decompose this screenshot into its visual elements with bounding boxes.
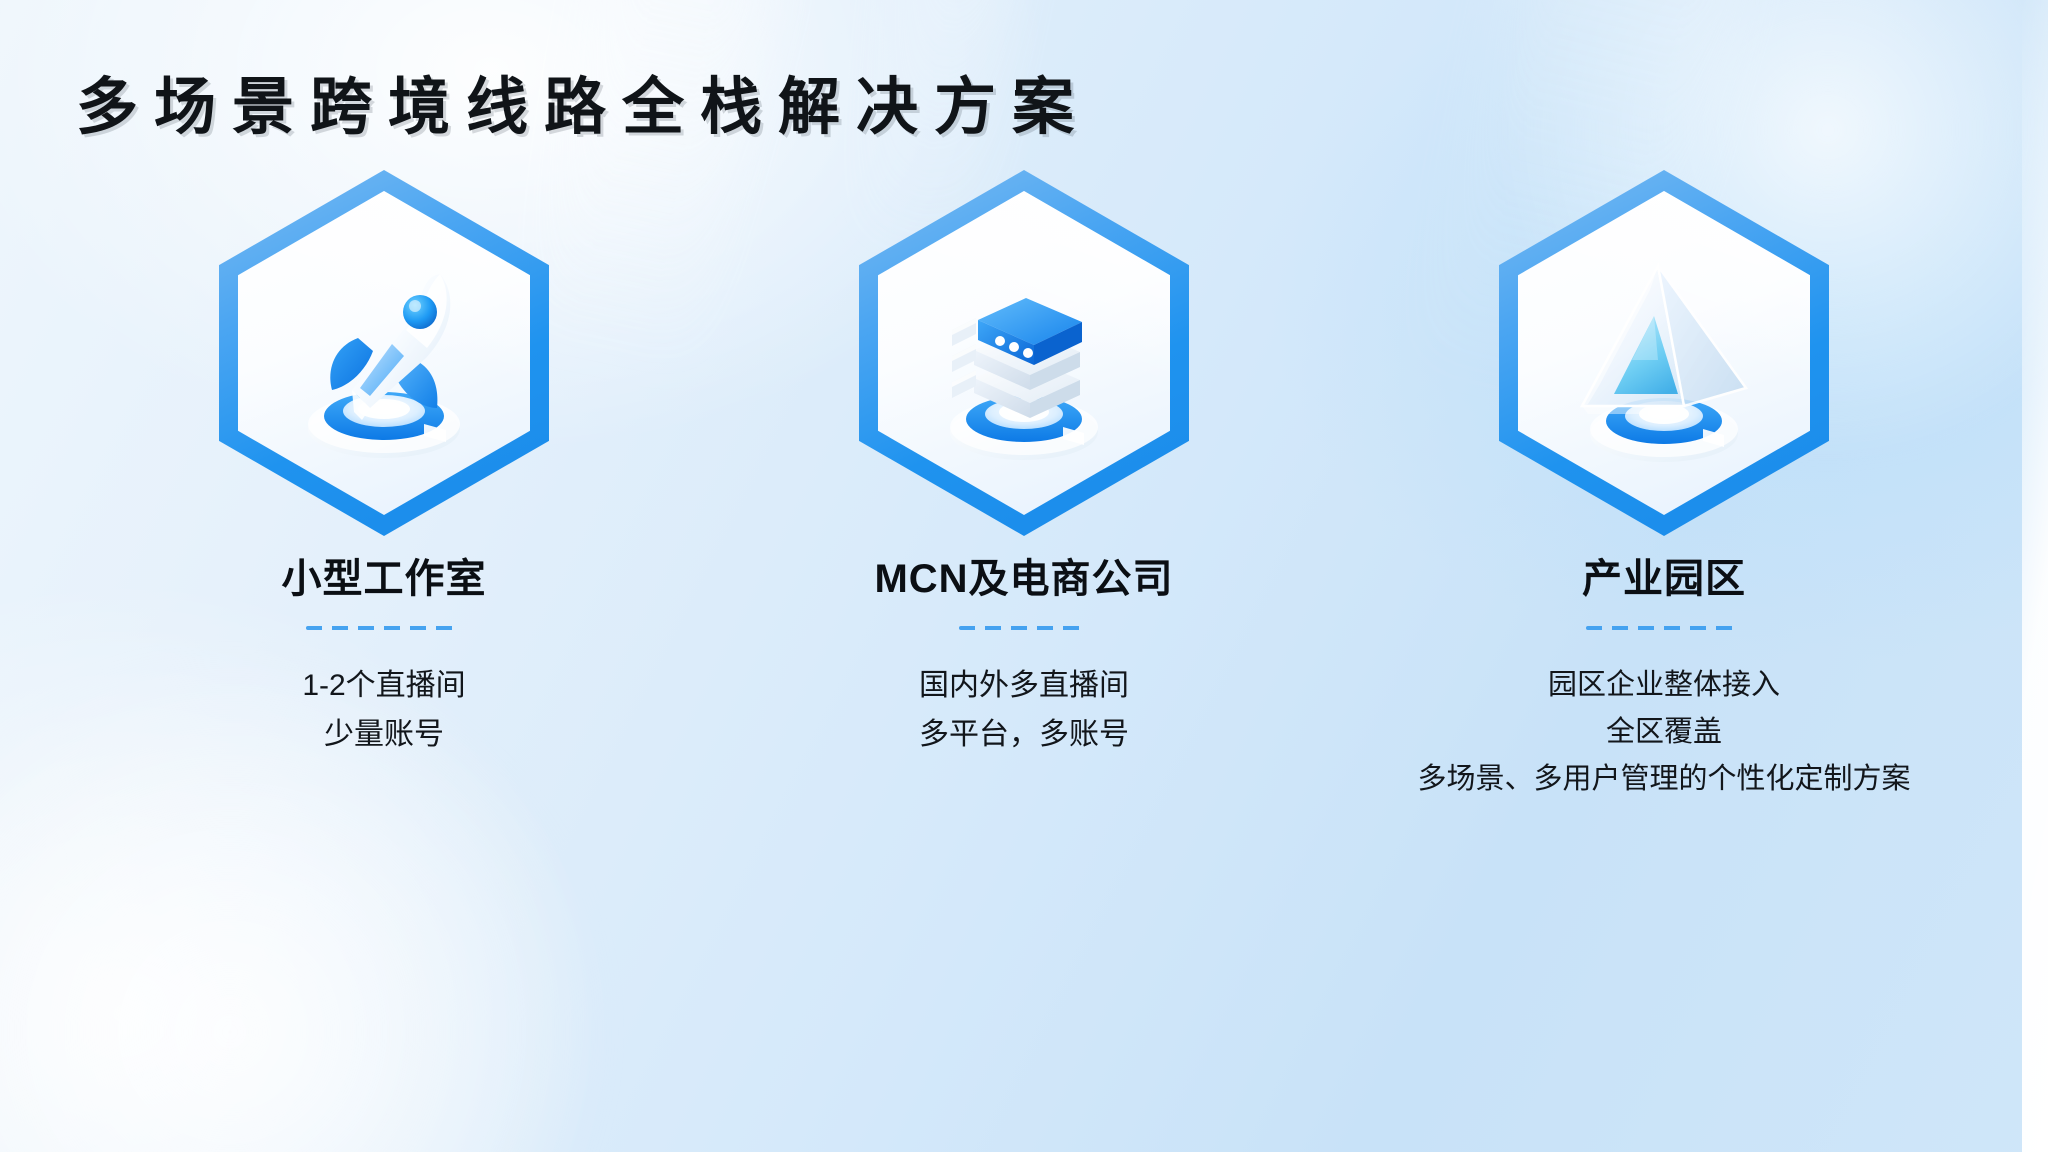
hexagon-badge — [1499, 170, 1829, 536]
scenario-card-mcn-ecommerce[interactable]: MCN及电商公司 国内外多直播间 多平台，多账号 — [704, 170, 1344, 759]
scenario-card-small-studio[interactable]: 小型工作室 1-2个直播间 少量账号 — [64, 170, 704, 759]
card-title: MCN及电商公司 — [874, 546, 1173, 604]
hexagon-badge — [859, 170, 1189, 536]
card-title: 小型工作室 — [282, 546, 487, 604]
rocket-icon — [274, 238, 494, 468]
card-description: 国内外多直播间 多平台，多账号 — [919, 662, 1129, 759]
description-line: 少量账号 — [302, 711, 465, 760]
server-stack-icon — [914, 238, 1134, 468]
hexagon-badge — [219, 170, 549, 536]
title-divider — [1586, 626, 1742, 630]
description-line: 国内外多直播间 — [919, 662, 1129, 711]
card-title: 产业园区 — [1582, 546, 1746, 604]
glass-pyramid-icon — [1554, 238, 1774, 468]
description-line: 园区企业整体接入 — [1417, 662, 1910, 709]
title-divider — [959, 626, 1089, 630]
description-line: 多平台，多账号 — [919, 711, 1129, 760]
description-line: 全区覆盖 — [1417, 709, 1910, 756]
scenario-card-row: 小型工作室 1-2个直播间 少量账号 — [0, 170, 2048, 803]
card-description: 1-2个直播间 少量账号 — [302, 662, 465, 759]
card-description: 园区企业整体接入 全区覆盖 多场景、多用户管理的个性化定制方案 — [1417, 662, 1910, 803]
description-line: 1-2个直播间 — [302, 662, 465, 711]
slide-canvas: 多场景跨境线路全栈解决方案 — [0, 0, 2048, 1152]
description-line: 多场景、多用户管理的个性化定制方案 — [1417, 756, 1910, 803]
page-title: 多场景跨境线路全栈解决方案 — [76, 56, 1090, 146]
title-divider — [306, 626, 462, 630]
scenario-card-industrial-park[interactable]: 产业园区 园区企业整体接入 全区覆盖 多场景、多用户管理的个性化定制方案 — [1344, 170, 1984, 803]
